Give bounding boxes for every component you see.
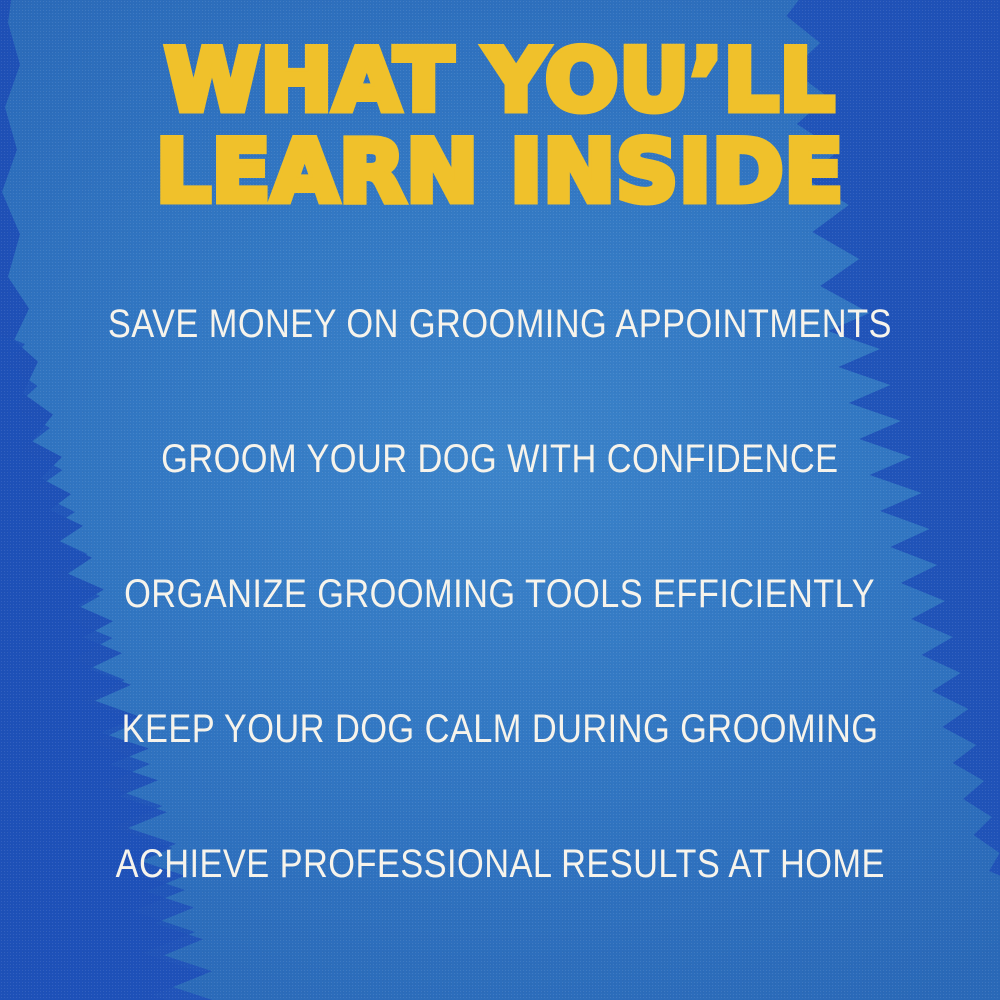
headline-line-2: LEARN INSIDE <box>0 133 1000 212</box>
headline-line-1: WHAT YOU’LL <box>0 42 1000 121</box>
benefit-item-2: GROOM YOUR DOG WITH CONFIDENCE <box>161 437 838 482</box>
headline-block: WHAT YOU’LL LEARN INSIDE <box>0 42 1000 212</box>
benefit-item-3: ORGANIZE GROOMING TOOLS EFFICIENTLY <box>125 572 876 617</box>
benefit-item-4: KEEP YOUR DOG CALM DURING GROOMING <box>122 707 879 752</box>
benefits-list: SAVE MONEY ON GROOMING APPOINTMENTS GROO… <box>0 302 1000 887</box>
benefit-item-1: SAVE MONEY ON GROOMING APPOINTMENTS <box>108 302 892 347</box>
benefit-item-5: ACHIEVE PROFESSIONAL RESULTS AT HOME <box>115 842 884 887</box>
poster-canvas: WHAT YOU’LL LEARN INSIDE SAVE MONEY ON G… <box>0 0 1000 1000</box>
poster-content: WHAT YOU’LL LEARN INSIDE SAVE MONEY ON G… <box>0 0 1000 1000</box>
